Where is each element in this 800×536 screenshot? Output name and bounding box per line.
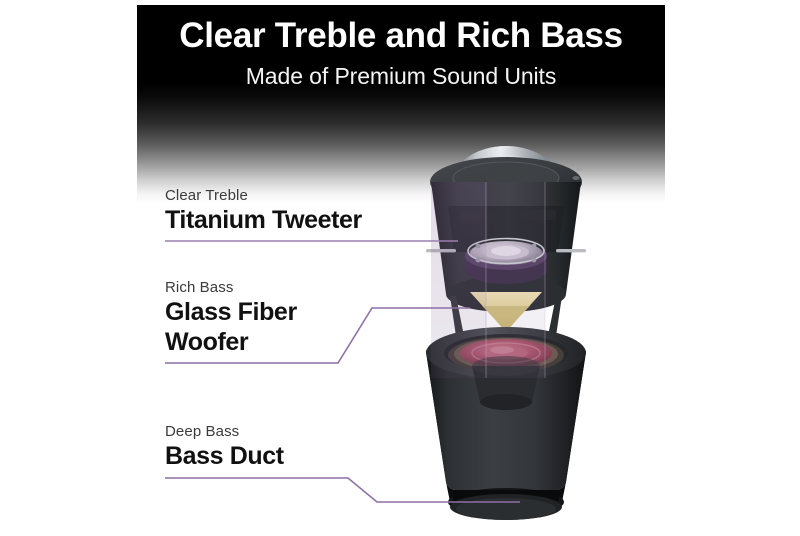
callout-headline-line1: Glass Fiber xyxy=(165,298,297,327)
callout-eyebrow: Deep Bass xyxy=(165,422,284,441)
leader-lines xyxy=(0,0,800,531)
callout-bass-duct: Deep Bass Bass Duct xyxy=(165,422,284,471)
callout-glass-fiber-woofer: Rich Bass Glass Fiber Woofer xyxy=(165,278,297,357)
product-feature-graphic: Clear Treble and Rich Bass Made of Premi… xyxy=(0,0,800,531)
leader-line-bassduct xyxy=(165,478,520,502)
callout-eyebrow: Rich Bass xyxy=(165,278,297,297)
callout-titanium-tweeter: Clear Treble Titanium Tweeter xyxy=(165,186,362,235)
callout-headline-line2: Woofer xyxy=(165,328,297,357)
callout-eyebrow: Clear Treble xyxy=(165,186,362,205)
callout-headline: Titanium Tweeter xyxy=(165,206,362,235)
callout-headline: Bass Duct xyxy=(165,442,284,471)
